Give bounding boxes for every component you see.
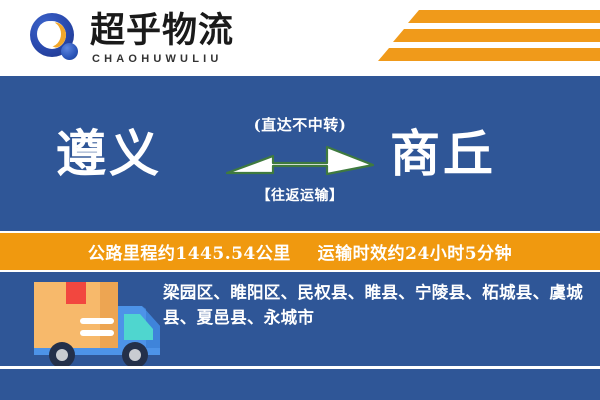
direct-route-tag: (直达不中转) <box>218 114 382 135</box>
logistics-route-poster: 超乎物流 CHAOHUWULIU 遵义 (直达不中转) 【往返运输】 商丘 公路… <box>0 0 600 400</box>
brand-name-cn: 超乎物流 <box>90 11 234 51</box>
roundtrip-tag: 【往返运输】 <box>218 185 382 205</box>
coverage-areas-text: 梁园区、睢阳区、民权县、睢县、宁陵县、柘城县、虞城县、夏邑县、永城市 <box>163 280 587 330</box>
circle-moon-logo-icon <box>28 13 84 65</box>
coverage-section: 梁园区、睢阳区、民权县、睢县、宁陵县、柘城县、虞城县、夏邑县、永城市 <box>0 272 600 400</box>
stripe-3 <box>378 48 600 61</box>
info-bar-text: 公路里程约1445.54公里 运输时效约24小时5分钟 <box>88 239 512 264</box>
duration-text: 运输时效约24小时5分钟 <box>318 244 513 264</box>
ground-line-divider <box>0 366 600 369</box>
logo-crescent-mask-shape <box>37 21 61 47</box>
distance-text: 公路里程约1445.54公里 <box>88 244 291 264</box>
destination-city: 商丘 <box>390 126 496 182</box>
stripe-1 <box>408 10 600 23</box>
route-panel: 遵义 (直达不中转) 【往返运输】 商丘 <box>0 74 600 231</box>
delivery-truck-icon <box>22 276 174 372</box>
logo-dot-shape <box>61 43 78 60</box>
origin-city: 遵义 <box>56 126 162 182</box>
double-headed-arrow-icon <box>225 143 375 179</box>
route-center-block: (直达不中转) 【往返运输】 <box>218 114 382 205</box>
brand-name-en: CHAOHUWULIU <box>92 53 223 65</box>
brand-logo: 超乎物流 CHAOHUWULIU <box>28 10 278 68</box>
header: 超乎物流 CHAOHUWULIU <box>0 0 600 74</box>
header-stripes-decoration <box>310 8 600 68</box>
stripe-2 <box>393 29 600 42</box>
info-bar: 公路里程约1445.54公里 运输时效约24小时5分钟 <box>0 231 600 272</box>
